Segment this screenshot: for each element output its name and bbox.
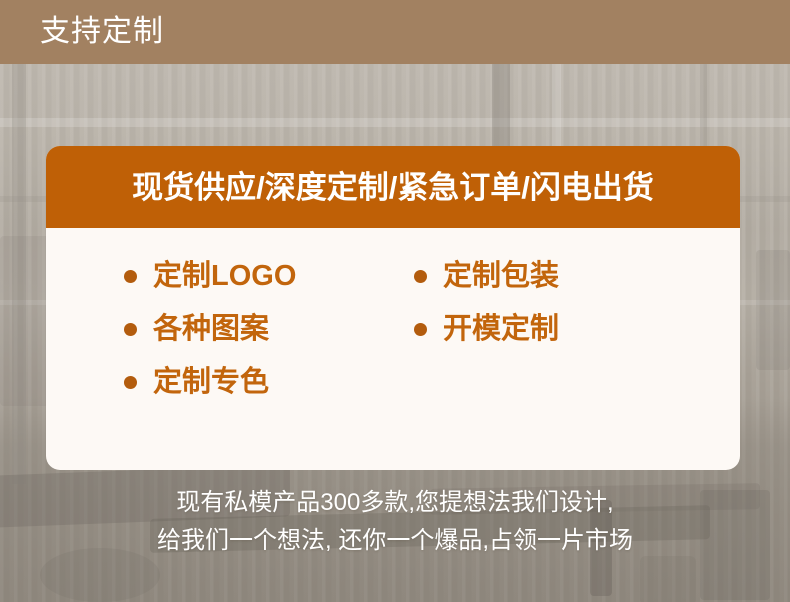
list-item: 定制LOGO	[124, 250, 414, 303]
card-banner-text: 现货供应/深度定制/紧急订单/闪电出货	[132, 172, 654, 203]
card-body: 定制LOGO 各种图案 定制专色 定制包装	[46, 228, 740, 470]
bullet-dot-icon	[414, 270, 427, 283]
tagline-line-2: 给我们一个想法, 还你一个爆品,占领一片市场	[0, 522, 790, 560]
header-bar: 支持定制	[0, 0, 790, 64]
promo-banner: 支持定制 现货供应/深度定制/紧急订单/闪电出货 定制LOGO 各种图案	[0, 0, 790, 602]
bullet-column-left: 定制LOGO 各种图案 定制专色	[124, 250, 414, 409]
tagline-line-1: 现有私模产品300多款,您提想法我们设计,	[0, 484, 790, 522]
tagline: 现有私模产品300多款,您提想法我们设计, 给我们一个想法, 还你一个爆品,占领…	[0, 484, 790, 560]
bullet-dot-icon	[414, 323, 427, 336]
list-item: 定制专色	[124, 356, 414, 409]
bullet-dot-icon	[124, 376, 137, 389]
list-item-label: 开模定制	[443, 315, 559, 344]
list-item-label: 各种图案	[153, 315, 269, 344]
list-item-label: 定制专色	[153, 368, 269, 397]
bullet-columns: 定制LOGO 各种图案 定制专色 定制包装	[46, 250, 740, 409]
list-item-label: 定制LOGO	[153, 262, 296, 291]
feature-card: 现货供应/深度定制/紧急订单/闪电出货 定制LOGO 各种图案 定制专色	[46, 146, 740, 470]
list-item: 各种图案	[124, 303, 414, 356]
bullet-dot-icon	[124, 323, 137, 336]
background-machinery	[756, 250, 790, 370]
page-title: 支持定制	[40, 17, 164, 47]
bullet-dot-icon	[124, 270, 137, 283]
card-banner: 现货供应/深度定制/紧急订单/闪电出货	[46, 146, 740, 228]
list-item: 开模定制	[414, 303, 704, 356]
background-beam	[0, 118, 790, 127]
list-item-label: 定制包装	[443, 262, 559, 291]
list-item: 定制包装	[414, 250, 704, 303]
bullet-column-right: 定制包装 开模定制	[414, 250, 704, 409]
background-machinery	[640, 556, 696, 602]
